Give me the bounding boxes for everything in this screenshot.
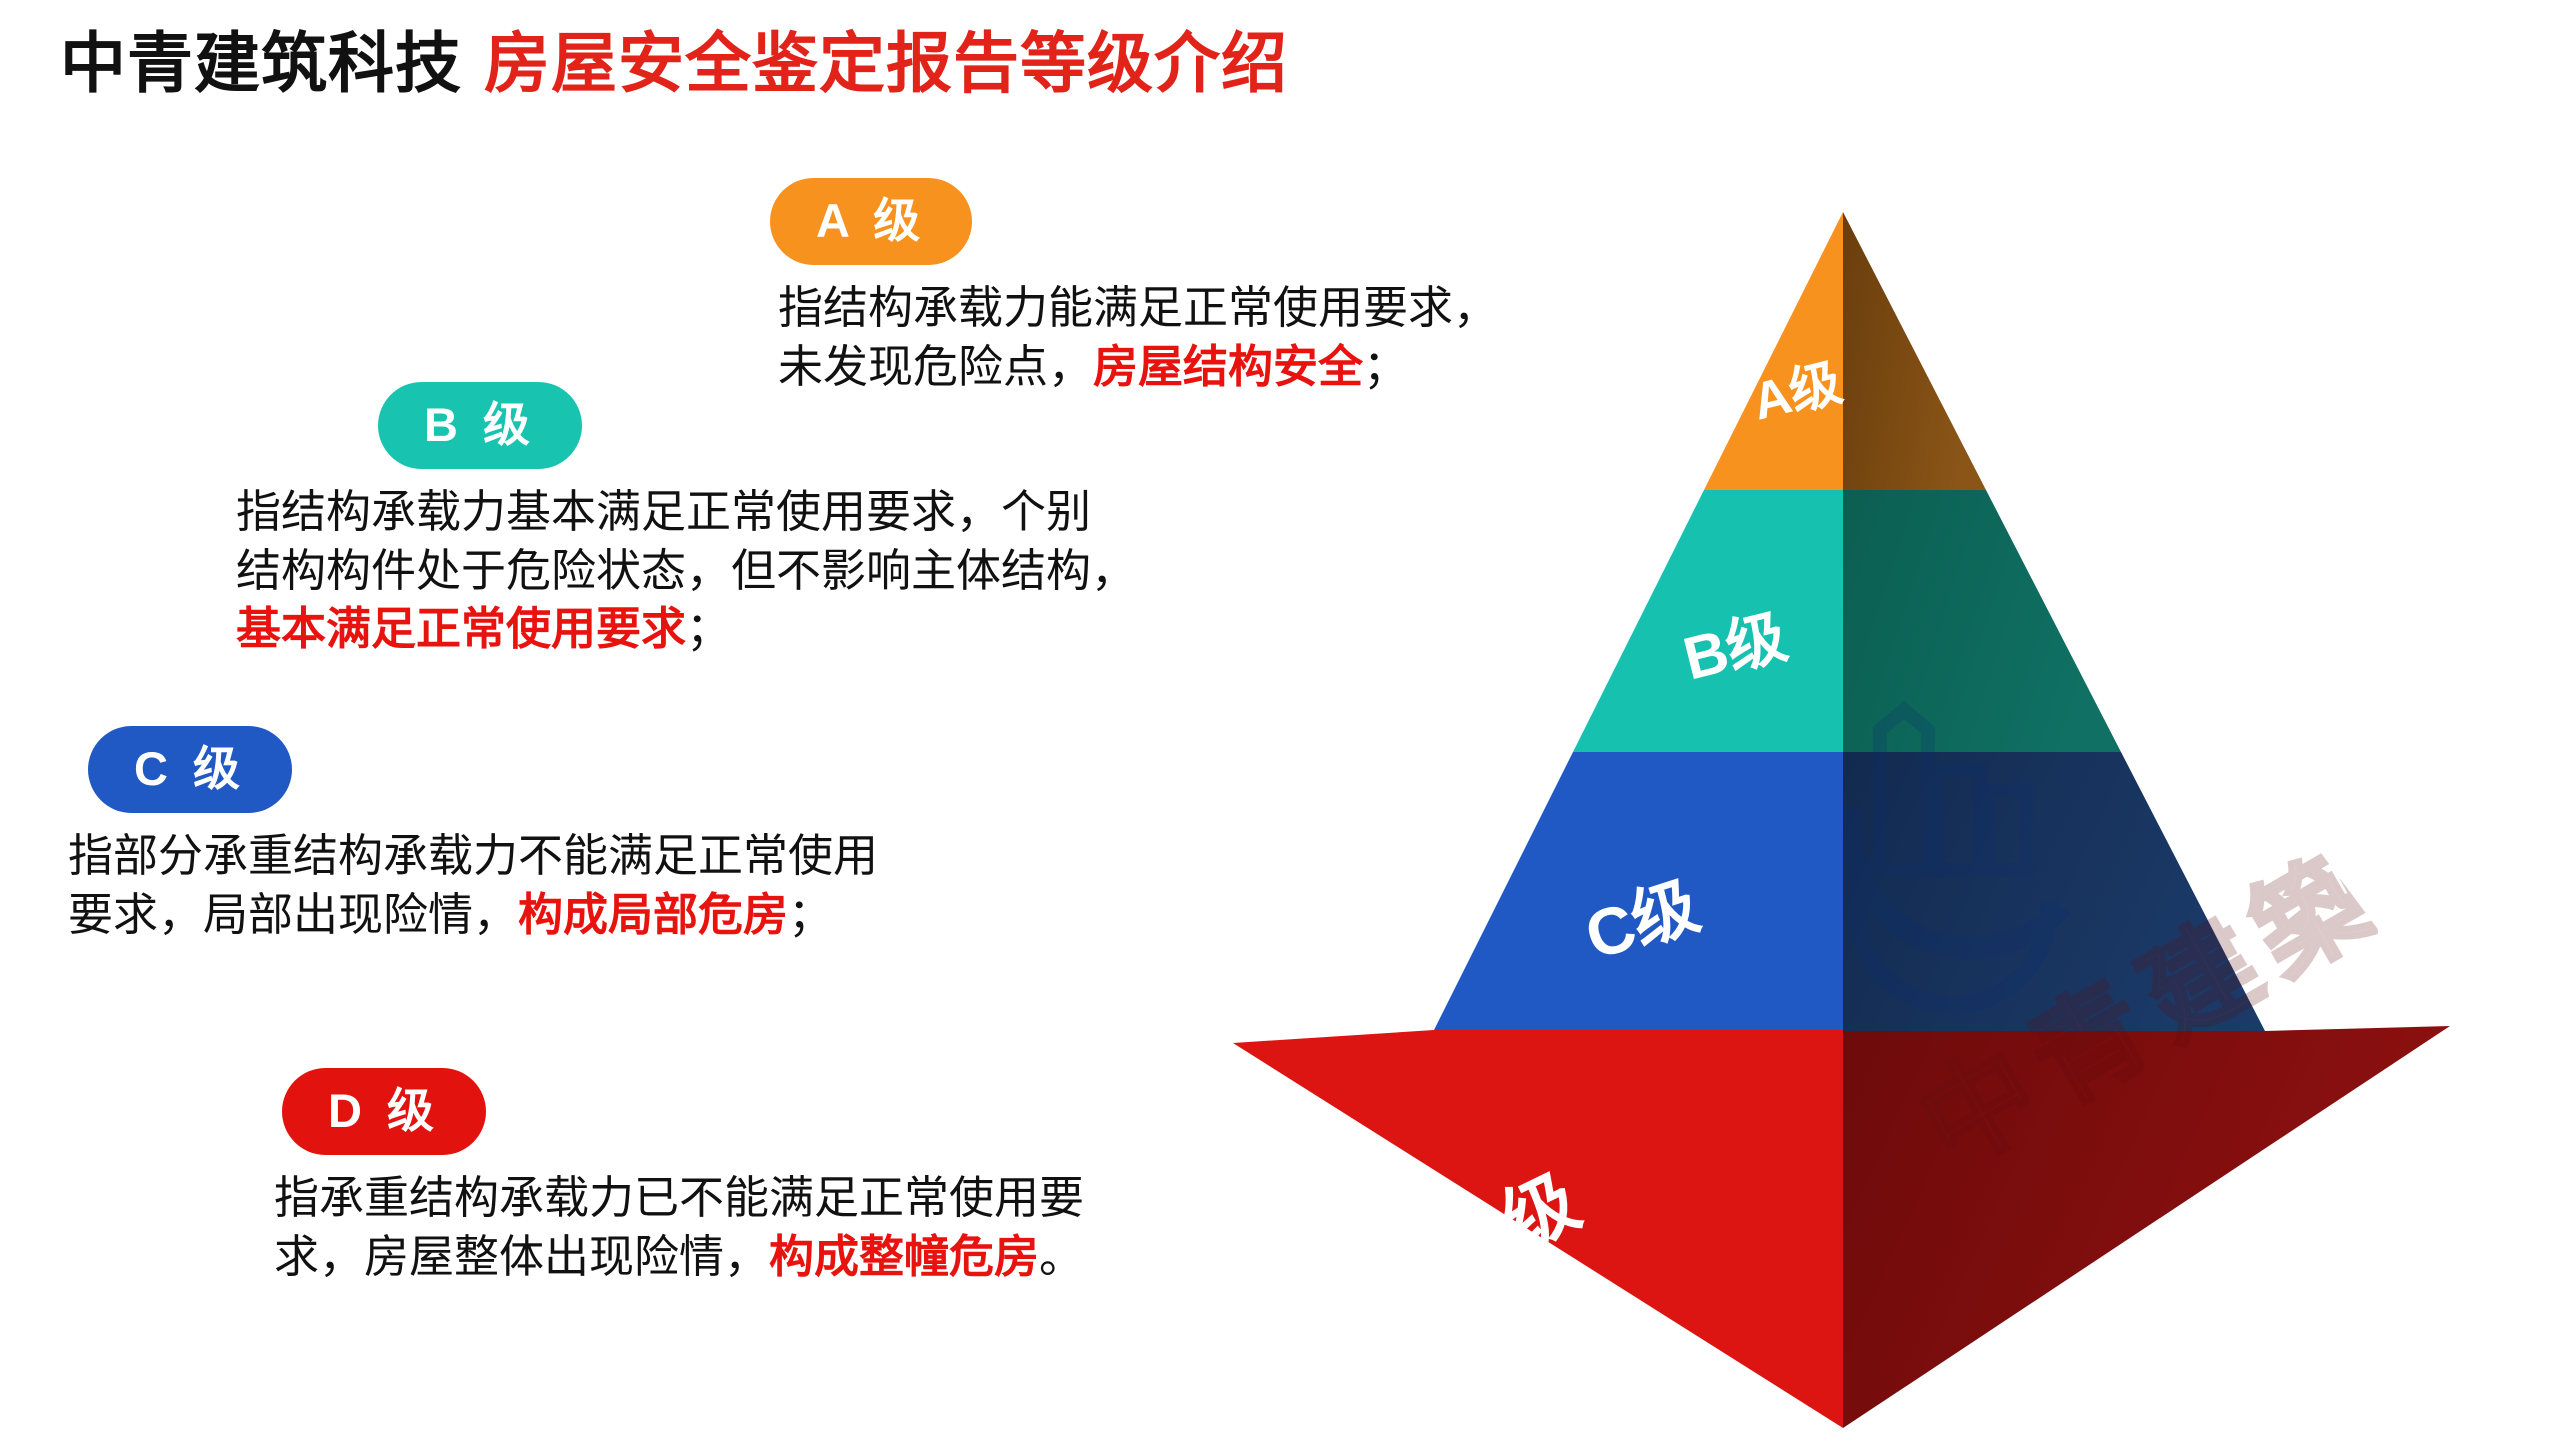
page-title: 中青建筑科技房屋安全鉴定报告等级介绍 [60,30,1288,96]
level-desc-tail-b: ； [686,603,731,654]
pyramid-tier-side-b [1843,490,2121,752]
brand-name: 中青建筑科技 [60,26,462,100]
level-desc-highlight-b: 基本满足正常使用要求 [236,603,686,654]
pyramid-chart: 中青建築科技 A级 B级 C级 D级 [1180,170,2520,1450]
title-headline: 房屋安全鉴定报告等级介绍 [484,26,1288,100]
level-badge-d[interactable]: D 级 [282,1068,486,1155]
level-block-c: C 级 指部分承重结构承载力不能满足正常使用 要求，局部出现险情，构成局部危房； [88,726,878,944]
level-desc-tail-d: 。 [1039,1231,1084,1282]
level-block-d: D 级 指承重结构承载力已不能满足正常使用要 求，房屋整体出现险情，构成整幢危房… [282,1068,1084,1286]
pyramid-tier-side-a [1843,212,1986,490]
pyramid-svg: 中青建築科技 A级 B级 C级 D级 [1180,170,2520,1450]
slide-root: 中青建筑科技房屋安全鉴定报告等级介绍 A 级 指结构承载力能满足正常使用要求， … [0,0,2560,1440]
level-description-d: 指承重结构承载力已不能满足正常使用要 求，房屋整体出现险情，构成整幢危房。 [274,1169,1084,1286]
pyramid-tier-front-a [1704,212,1843,490]
level-description-b: 指结构承载力基本满足正常使用要求，个别 结构构件处于危险状态，但不影响主体结构，… [236,483,1136,659]
level-badge-a[interactable]: A 级 [770,178,972,265]
level-desc-highlight-c: 构成局部危房 [518,889,788,940]
level-desc-plain-b: 指结构承载力基本满足正常使用要求，个别 结构构件处于危险状态，但不影响主体结构， [236,486,1136,596]
level-desc-highlight-d: 构成整幢危房 [769,1231,1039,1282]
level-desc-tail-c: ； [788,889,833,940]
level-description-c: 指部分承重结构承载力不能满足正常使用 要求，局部出现险情，构成局部危房； [68,827,878,944]
level-badge-b[interactable]: B 级 [378,382,582,469]
level-block-b: B 级 指结构承载力基本满足正常使用要求，个别 结构构件处于危险状态，但不影响主… [378,382,1136,659]
level-badge-c[interactable]: C 级 [88,726,292,813]
